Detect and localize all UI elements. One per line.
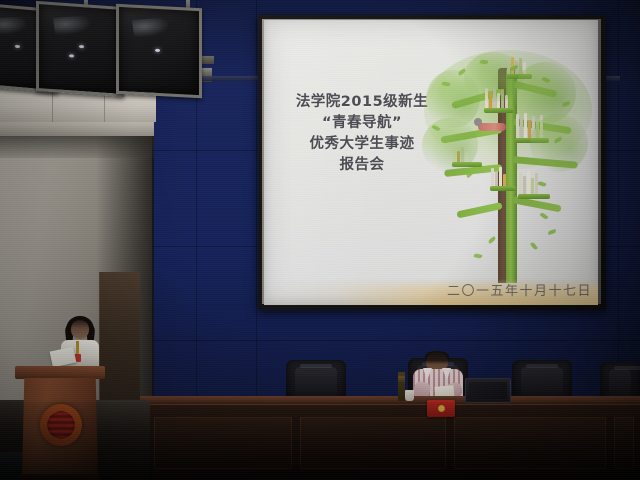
leaf (538, 181, 547, 188)
chair-highlight (614, 366, 640, 370)
monitor-glare (0, 17, 29, 36)
nameplate-crest (437, 404, 446, 413)
shelf-books (519, 170, 538, 194)
table-panel (454, 417, 606, 469)
shelf-books (491, 166, 506, 186)
falling-leaf (548, 229, 557, 235)
falling-leaf (540, 212, 549, 220)
bottle-cap (398, 372, 405, 376)
paper-cup (405, 390, 414, 401)
speaker-at-podium (52, 316, 108, 368)
falling-leaf (474, 253, 483, 259)
podium-top-surface (15, 366, 105, 379)
podium-base (20, 474, 100, 480)
table-panel (300, 417, 446, 469)
seal-inner-text (47, 411, 75, 439)
head (71, 320, 89, 339)
soffit-shadow (0, 136, 154, 158)
falling-leaf (530, 242, 538, 251)
slide-date: 二〇一五年十月十七日 (447, 280, 592, 299)
monitor-reflection-dot (15, 45, 20, 48)
book-tree-illustration (422, 48, 594, 283)
table-panel (614, 417, 634, 469)
falling-leaf (488, 236, 497, 244)
monitor-reflection-dot (79, 45, 84, 48)
ceiling-monitor-3 (116, 4, 202, 99)
lanyard (76, 341, 79, 355)
wooden-podium (18, 366, 102, 480)
chair-highlight (300, 364, 332, 368)
reading-figure-head (474, 118, 482, 126)
leaf-cluster (530, 114, 588, 172)
ceiling-monitor-2 (36, 1, 124, 97)
monitor-reflection-dot (69, 54, 74, 57)
head-table (140, 405, 640, 480)
red-nameplate (427, 400, 455, 417)
tree-bookshelf (484, 108, 514, 113)
monitor-glare (53, 15, 93, 36)
university-seal-emblem (40, 404, 82, 446)
monitor-glare (132, 17, 171, 39)
seated-official (412, 352, 464, 400)
chair-highlight (526, 364, 558, 368)
laptop-screen (469, 382, 507, 399)
conference-hall-photo: 法学院2015级新生 “青春导航” 优秀大学生事迹 报告会 (0, 0, 640, 480)
laptop (465, 378, 511, 403)
water-bottle (398, 375, 405, 401)
tree-bookshelf (490, 186, 516, 191)
tree-branch (456, 202, 502, 218)
wall-panel-seam (618, 0, 619, 400)
tree-bookshelf (518, 194, 550, 199)
wall-panel-seam (256, 0, 257, 400)
leaf-cluster (422, 118, 478, 172)
reading-figure (478, 123, 506, 131)
projection-screen: 法学院2015级新生 “青春导航” 优秀大学生事迹 报告会 (264, 20, 598, 305)
monitor-reflection-dot (155, 49, 160, 52)
table-panel (154, 417, 292, 469)
